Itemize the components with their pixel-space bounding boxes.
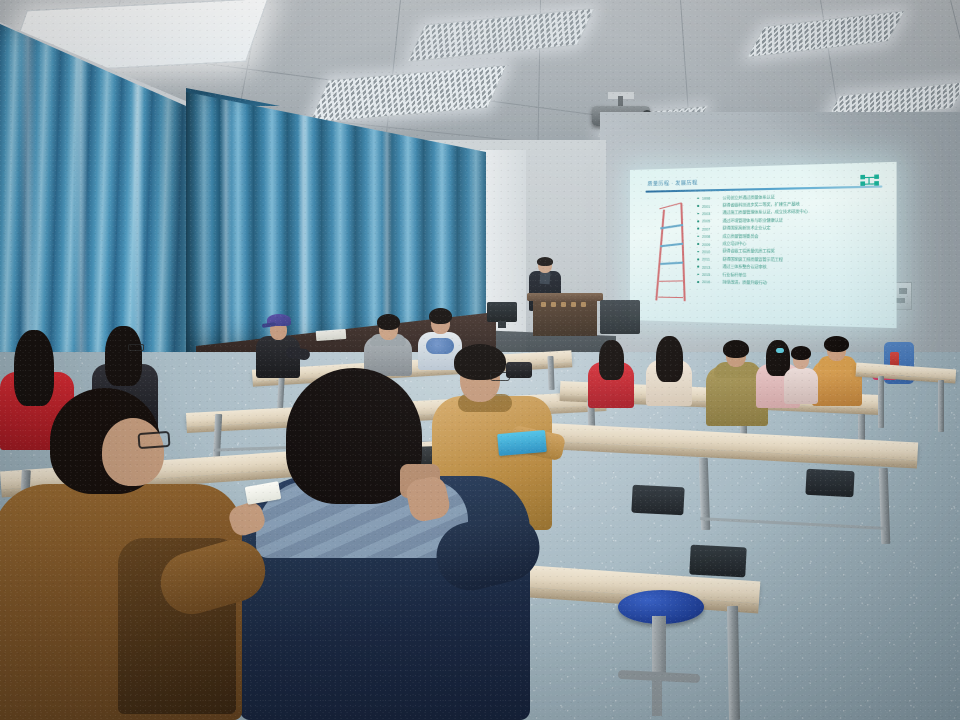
attendee-hair: [824, 336, 849, 352]
attendee-grey-hoodie: [364, 312, 412, 370]
list-item[interactable]: [805, 469, 854, 497]
list-item[interactable]: [631, 485, 684, 516]
ladder-diagram-icon: [655, 199, 691, 302]
monitor-screen: [487, 302, 517, 322]
list-item: 2009 成立培训中心: [697, 240, 885, 248]
attendee-hair: [723, 340, 749, 358]
bullet-icon: [697, 243, 699, 245]
presenter-hair: [537, 257, 553, 266]
white-paper: [316, 329, 347, 341]
list-item: 2016 持续改进，质量升级行动: [697, 278, 885, 289]
bullet-icon: [697, 205, 699, 207]
lectern-top: [527, 293, 603, 301]
attendee-cream-coat: [646, 336, 692, 402]
attendee-head: [102, 418, 164, 486]
company-logo-icon: [860, 173, 880, 186]
attendee-hair: [105, 326, 142, 386]
bullet-icon: [697, 220, 699, 222]
attendee-body: [784, 368, 818, 404]
glasses-icon: [137, 431, 170, 449]
bullet-icon: [697, 228, 699, 230]
equipment-cabinet: [600, 300, 640, 334]
attendee-capped-back-row: [256, 312, 300, 374]
podium-monitor: [487, 302, 517, 328]
bullet-icon: [697, 213, 699, 215]
slide-title: 质量历程 · 发展历程: [647, 179, 697, 187]
glasses-icon: [128, 344, 144, 351]
monitor-stand: [498, 321, 506, 328]
bullet-icon: [697, 258, 699, 260]
attendee-pale-pink-right: [784, 346, 818, 398]
attendee-mustard-hoodie: [812, 336, 862, 402]
bullet-icon: [697, 236, 699, 238]
lectern: [527, 293, 603, 337]
bullet-icon: [697, 251, 699, 253]
attendee-hair: [656, 336, 683, 382]
attendee-hair: [791, 346, 811, 360]
presenter-collar: [540, 272, 551, 285]
attendee-brown-jacket-foreground: [0, 388, 262, 720]
slide-timeline-list: 1998 公司创立并通过质量体系认证 2001 获得省级科技进步奖二等奖，扩建生…: [697, 191, 885, 289]
stool-post: [652, 616, 666, 678]
stool-base-arm: [652, 672, 662, 716]
lectern-body: [533, 300, 597, 336]
bullet-icon: [697, 274, 699, 276]
attendee-red-coat-right: [588, 340, 634, 402]
classroom-photo: 质量历程 · 发展历程: [0, 0, 960, 720]
bullet-icon: [697, 198, 699, 200]
attendee-hair: [377, 314, 400, 330]
attendee-blue-sweater-foreground: [240, 368, 540, 720]
slide-content: 质量历程 · 发展历程: [640, 169, 887, 319]
hair-tie-icon: [776, 348, 784, 353]
bullet-icon: [697, 281, 699, 283]
bullet-icon: [697, 266, 699, 268]
attendee-hair: [599, 340, 624, 380]
projection-screen[interactable]: 质量历程 · 发展历程: [630, 162, 897, 328]
attendee-hair: [429, 308, 452, 324]
list-item[interactable]: [689, 545, 746, 578]
